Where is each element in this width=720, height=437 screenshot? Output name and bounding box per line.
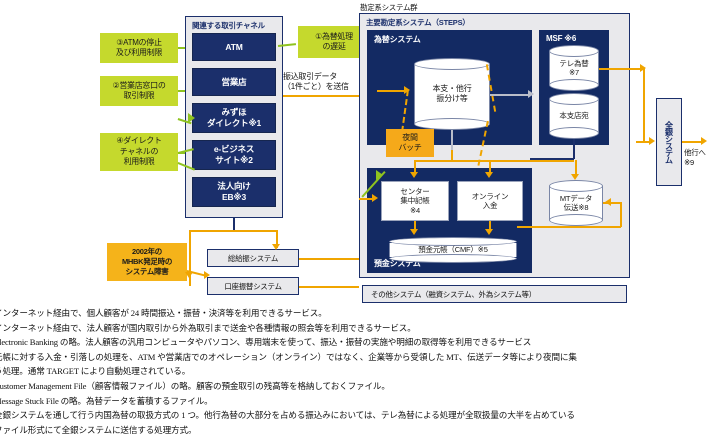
amber-arrow-online	[485, 172, 493, 178]
branch-destination-db: 本支店宛	[549, 93, 599, 139]
grey-routing-to-msf	[490, 94, 530, 96]
channel-atm-label: ATM	[225, 42, 242, 53]
footnote-line-2: インターネット経由で、法人顧客が国内取引から外為取引まで送金や各種情報の照会等を…	[0, 321, 720, 336]
callout-2002-incident-label: 2002年の MHBK発足時の システム障害	[122, 247, 172, 276]
zengin-system-label: 全銀システム	[664, 121, 675, 163]
zengin-out-note: 他行へ ※9	[684, 148, 720, 168]
channel-mizuho-direct: みずほ ダイレクト※1	[192, 103, 276, 133]
accounting-group-header: 勘定系システム群	[360, 3, 417, 13]
amber-into-routing-db	[377, 90, 405, 92]
mt-data-db-label: MTデータ 伝送※8	[549, 180, 603, 226]
other-systems-band: その他システム（融資システム、外為システム等）	[362, 285, 627, 303]
amber-branch-bottom	[189, 230, 277, 232]
salary-transfer-system-label: 総給振システム	[228, 253, 278, 264]
amber-msf-to-zengin	[599, 68, 644, 70]
online-deposit-label: オンライン 入金	[472, 192, 509, 211]
other-systems-label: その他システム（融資システム、外為システム等）	[371, 289, 536, 300]
callout-exchange-delay-label: ①為替処理 の遅延	[315, 32, 353, 53]
amber-arrow-out-of-zengin	[701, 137, 707, 145]
diagram-canvas: ③ATMの停止 及び利用制限 ②営業店窓口の 取引制限 ④ダイレクト チャネルの…	[0, 0, 720, 429]
steps-panel-title: 主要勘定系システム（STEPS）	[366, 17, 470, 28]
footnote-line-3: Electronic Banking の略。法人顧客の汎用コンピュータやパソコン…	[0, 335, 720, 350]
deposit-ledger-cmf: 預金元帳（CMF）※5	[389, 237, 517, 263]
center-batch-posting-label: センター 集中記帳 ※4	[400, 187, 429, 215]
online-deposit-box: オンライン 入金	[457, 181, 523, 221]
channel-atm: ATM	[192, 33, 276, 61]
footnote-line-1: インターネット経由で、個人顧客が 24 時間振込・振替・決済等を利用できるサービ…	[0, 306, 720, 321]
tele-exchange-db-label: テレ為替 ※7	[549, 45, 599, 91]
center-batch-posting-box: センター 集中記帳 ※4	[381, 181, 449, 221]
amber-routing-bar	[414, 160, 574, 162]
callout-atm-restriction-label: ③ATMの停止 及び利用制限	[116, 38, 162, 59]
channel-mizuho-direct-label: みずほ ダイレクト※1	[207, 107, 261, 128]
amber-msf-down-to-zengin	[643, 68, 645, 142]
green-connector-delay-in	[278, 43, 296, 46]
amber-arrow-center-batch	[410, 172, 418, 178]
night-batch-box: 夜間 バッチ	[386, 129, 434, 157]
footnote-line-5: う処理。通常 TARGET により自動処理されている。	[0, 364, 720, 379]
channel-corporate-eb-label: 法人向け EB※3	[217, 181, 250, 202]
callout-branch-restriction: ②営業店窓口の 取引制限	[100, 76, 178, 106]
panel-stem	[233, 218, 235, 230]
channel-panel-title: 関連する取引チャネル	[192, 20, 265, 31]
branch-destination-db-label: 本支店宛	[549, 93, 599, 139]
night-batch-label: 夜間 バッチ	[398, 133, 421, 153]
callout-atm-restriction: ③ATMの停止 及び利用制限	[100, 33, 178, 63]
exchange-routing-db-label: 本支・他行 振分け等	[414, 58, 490, 130]
channel-e-business-site: e-ビジネス サイト※2	[192, 140, 276, 170]
account-debit-system-label: 口座振替システム	[224, 281, 281, 292]
callout-branch-restriction-label: ②営業店窓口の 取引制限	[112, 81, 165, 102]
footnotes-block: インターネット経由で、個人顧客が 24 時間振込・振替・決済等を利用できるサービ…	[0, 306, 720, 437]
channel-corporate-eb: 法人向け EB※3	[192, 177, 276, 207]
channel-branch: 営業店	[192, 68, 276, 96]
green-arrow-into-deposit	[376, 170, 383, 180]
msf-title: MSF ※6	[546, 34, 576, 43]
mt-data-db: MTデータ 伝送※8	[549, 180, 603, 226]
channel-e-business-site-label: e-ビジネス サイト※2	[214, 144, 254, 165]
footnote-line-8: 全銀システムを通して行う内国為替の取扱方式の 1 つ。他行為替の大部分を占める振…	[0, 408, 720, 423]
footnote-line-9: ファイル形式にて全銀システムに送信する処理方式。	[0, 423, 720, 437]
navy-branch-dest-down	[573, 139, 575, 159]
amber-debit-to-steps	[299, 286, 359, 288]
callout-direct-channel-restriction-label: ④ダイレクト チャネルの 利用制限	[116, 136, 161, 167]
amber-arrow-online-to-ledger	[485, 229, 493, 235]
salary-transfer-system: 総給振システム	[207, 249, 299, 267]
amber-bottom-up	[620, 202, 622, 227]
tele-exchange-db: テレ為替 ※7	[549, 45, 599, 91]
zengin-system: 全銀システム	[656, 98, 682, 186]
amber-arrow-batch-to-ledger	[410, 229, 418, 235]
amber-arrow-into-zengin	[649, 137, 655, 145]
account-debit-system: 口座振替システム	[207, 277, 299, 295]
footnote-line-4: 元帳に対する入金・引落しの処理を、ATM や営業店でのオペレーション（オンライン…	[0, 350, 720, 365]
callout-2002-incident: 2002年の MHBK発足時の システム障害	[107, 243, 187, 281]
footnote-line-6: Customer Management File（顧客情報ファイル）の略。顧客の…	[0, 379, 720, 394]
amber-routing-stem	[451, 150, 453, 160]
amber-arrow-mt-left	[605, 198, 611, 206]
amber-arrow-left-into-deposit	[372, 194, 378, 202]
amber-bottom-to-right	[517, 226, 621, 228]
grey-arrow-to-msf	[528, 90, 534, 98]
callout-direct-channel-restriction: ④ダイレクト チャネルの 利用制限	[100, 133, 178, 171]
exchange-routing-db: 本支・他行 振分け等	[414, 58, 490, 130]
channel-branch-label: 営業店	[222, 77, 247, 88]
deposit-ledger-cmf-label: 預金元帳（CMF）※5	[389, 237, 517, 263]
amber-salary-to-steps	[299, 258, 359, 260]
footnote-line-7: Message Stuck File の略。為替データを蓄積するファイル。	[0, 394, 720, 409]
amber-arrow-debit	[185, 272, 193, 278]
green-arrow-direct-2	[188, 113, 195, 123]
exchange-system-title: 為替システム	[374, 34, 421, 45]
amber-arrow-salary	[272, 244, 280, 250]
